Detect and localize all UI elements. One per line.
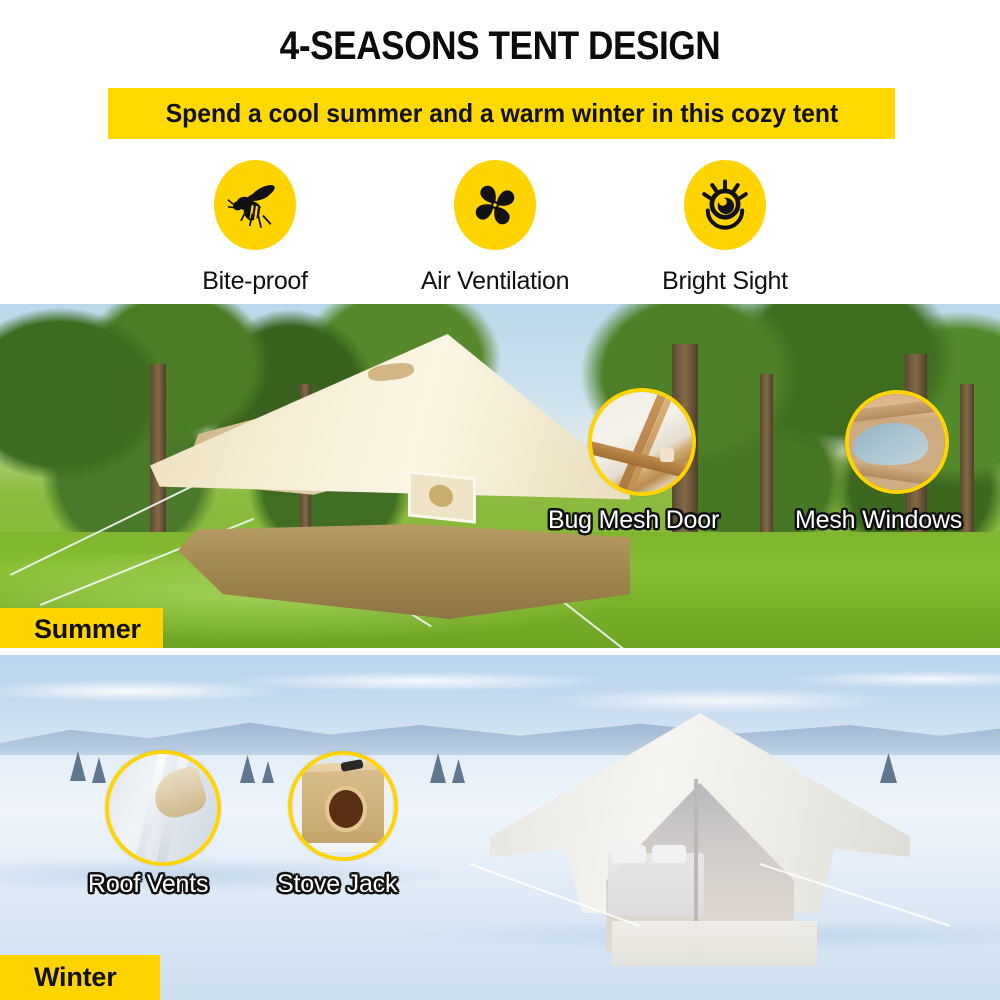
tent-window bbox=[408, 470, 476, 523]
feature-air-ventilation: Air Ventilation bbox=[385, 160, 605, 296]
season-badge-label: Winter bbox=[0, 962, 117, 993]
callout-bug-mesh-door[interactable] bbox=[588, 388, 696, 496]
feature-label: Bite-proof bbox=[145, 267, 365, 296]
mosquito-icon bbox=[227, 177, 283, 233]
tree-trunk bbox=[760, 374, 773, 554]
subtitle-text: Spend a cool summer and a warm winter in… bbox=[165, 98, 838, 129]
callout-roof-vents[interactable] bbox=[105, 750, 221, 866]
header-section: 4-SEASONS TENT DESIGN Spend a cool summe… bbox=[0, 0, 1000, 304]
tent-pillow bbox=[612, 845, 646, 863]
product-infographic: 4-SEASONS TENT DESIGN Spend a cool summe… bbox=[0, 0, 1000, 1000]
feature-icon-badge bbox=[684, 160, 766, 250]
feature-icon-badge bbox=[454, 160, 536, 250]
feature-label: Air Ventilation bbox=[385, 267, 605, 296]
season-badge-winter: Winter bbox=[0, 955, 160, 1000]
callout-label-mesh-windows: Mesh Windows bbox=[795, 506, 962, 535]
tent-ground-skirt bbox=[178, 524, 630, 619]
fan-icon bbox=[468, 178, 522, 232]
bug-mesh-door-photo bbox=[592, 392, 692, 492]
season-badge-label: Summer bbox=[0, 614, 141, 645]
feature-label: Bright Sight bbox=[615, 267, 835, 296]
subtitle-banner: Spend a cool summer and a warm winter in… bbox=[108, 88, 895, 139]
season-badge-summer: Summer bbox=[0, 608, 163, 650]
eye-icon bbox=[696, 176, 754, 234]
callout-label-roof-vents: Roof Vents bbox=[88, 870, 208, 899]
stove-jack-photo bbox=[292, 755, 394, 857]
callout-mesh-windows[interactable] bbox=[845, 390, 949, 494]
tent-pillow bbox=[652, 845, 686, 863]
summer-bell-tent bbox=[150, 334, 630, 614]
mesh-windows-photo bbox=[849, 394, 945, 490]
winter-photo-panel: Roof Vents Stove Jack Winter bbox=[0, 655, 1000, 1000]
feature-row: Bite-proof Air Ven bbox=[0, 160, 1000, 300]
feature-bite-proof: Bite-proof bbox=[145, 160, 365, 296]
winter-bell-tent bbox=[490, 713, 910, 963]
callout-label-stove-jack: Stove Jack bbox=[277, 870, 397, 899]
feature-icon-badge bbox=[214, 160, 296, 250]
page-title: 4-SEASONS TENT DESIGN bbox=[60, 24, 940, 68]
roof-vents-photo bbox=[109, 754, 217, 862]
callout-stove-jack[interactable] bbox=[288, 751, 398, 861]
summer-photo-panel: Bug Mesh Door Mesh Windows Summer bbox=[0, 304, 1000, 650]
feature-bright-sight: Bright Sight bbox=[615, 160, 835, 296]
tent-entry-rug bbox=[612, 921, 817, 966]
callout-label-bug-mesh-door: Bug Mesh Door bbox=[548, 506, 719, 535]
